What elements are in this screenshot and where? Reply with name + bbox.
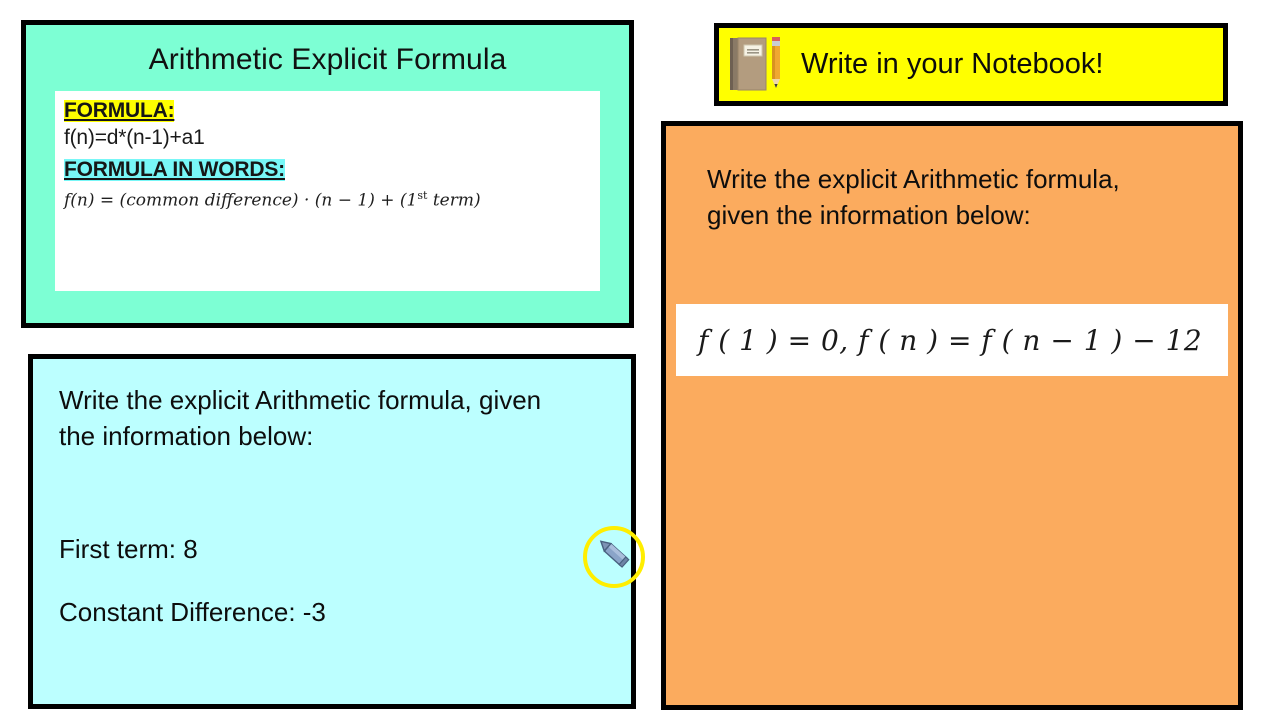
formula-in-words-label: FORMULA IN WORDS: [64, 159, 285, 181]
notebook-banner-label: Write in your Notebook! [801, 48, 1104, 81]
recursive-equation-box: f ( 1 ) = 0, f ( n ) = f ( n − 1 ) − 12 [676, 304, 1228, 376]
constant-difference-value: Constant Difference: -3 [59, 597, 326, 628]
formula-card: FORMULA: f(n)=d*(n-1)+a1 FORMULA IN WORD… [55, 91, 600, 291]
cyan-prompt-text: Write the explicit Arithmetic formula, g… [59, 383, 549, 455]
arithmetic-explicit-formula-panel: Arithmetic Explicit Formula FORMULA: f(n… [21, 20, 634, 328]
first-term-value: First term: 8 [59, 534, 198, 565]
formula-in-words-expression: f(n) = (common difference) · (n − 1) + (… [64, 189, 600, 211]
practice-problem-left-panel: Write the explicit Arithmetic formula, g… [28, 354, 636, 709]
formula-words-tail: term) [427, 191, 480, 211]
write-in-your-notebook-banner: Write in your Notebook! [714, 23, 1228, 106]
orange-prompt-text: Write the explicit Arithmetic formula, g… [707, 162, 1187, 234]
recursive-equation: f ( 1 ) = 0, f ( n ) = f ( n − 1 ) − 12 [676, 324, 1202, 357]
formula-label: FORMULA: [64, 100, 174, 122]
formula-words-superscript: st [417, 189, 427, 202]
recursive-equation-text: f ( 1 ) = 0, f ( n ) = f ( n − 1 ) − 12 [698, 324, 1202, 357]
page-title: Arithmetic Explicit Formula [26, 43, 629, 77]
notebook-and-pencil-icon [725, 34, 787, 96]
practice-problem-right-panel: Write the explicit Arithmetic formula, g… [661, 121, 1243, 710]
formula-symbolic-expression: f(n)=d*(n-1)+a1 [64, 126, 600, 150]
formula-words-lhs: f(n) = (common difference) · (n − 1) + (… [64, 191, 417, 211]
